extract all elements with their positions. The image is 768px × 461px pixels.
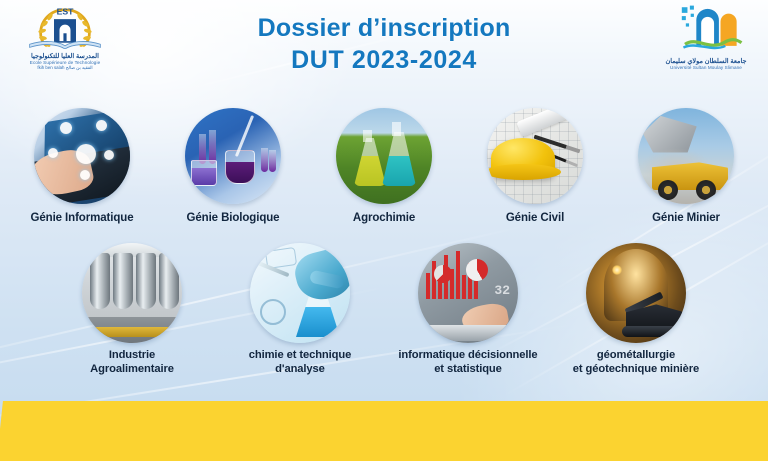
tunnel-excavator-icon bbox=[586, 243, 686, 343]
filiere-label: Agrochimie bbox=[353, 211, 415, 225]
gloved-hand-flask-icon bbox=[250, 243, 350, 343]
filiere-card-genie-informatique[interactable]: Génie Informatique bbox=[14, 108, 150, 225]
filiere-card-informatique-decisionnelle[interactable]: 32 informatique décisionnelle et statist… bbox=[392, 243, 544, 376]
filiere-label: géométallurgie et géotechnique minière bbox=[573, 349, 699, 376]
footer-yellow-banner bbox=[0, 401, 768, 461]
filiere-card-genie-minier[interactable]: Génie Minier bbox=[618, 108, 754, 225]
filiere-card-genie-biologique[interactable]: Génie Biologique bbox=[165, 108, 301, 225]
filiere-card-genie-civil[interactable]: Génie Civil bbox=[467, 108, 603, 225]
dashboard-charts-icon: 32 bbox=[418, 243, 518, 343]
filiere-label: Génie Biologique bbox=[187, 211, 280, 225]
lab-glassware-icon bbox=[185, 108, 281, 204]
filiere-card-agrochimie[interactable]: Agrochimie bbox=[316, 108, 452, 225]
filiere-label: informatique décisionnelle et statistiqu… bbox=[398, 349, 537, 376]
title-line-1: Dossier d’inscription bbox=[0, 12, 768, 44]
steel-tanks-icon bbox=[82, 243, 182, 343]
filieres-row-1: Génie Informatique Génie Biologique Agro… bbox=[0, 108, 768, 225]
filiere-label: Génie Informatique bbox=[31, 211, 134, 225]
laptop-network-icon bbox=[34, 108, 130, 204]
filiere-label: Génie Civil bbox=[506, 211, 564, 225]
filiere-label: chimie et technique d'analyse bbox=[249, 349, 352, 376]
hard-hat-blueprint-icon bbox=[487, 108, 583, 204]
flasks-field-icon bbox=[336, 108, 432, 204]
filiere-card-chimie-technique-analyse[interactable]: chimie et technique d'analyse bbox=[224, 243, 376, 376]
mining-truck-icon bbox=[638, 108, 734, 204]
title-line-2: DUT 2023-2024 bbox=[0, 44, 768, 76]
filiere-card-industrie-agroalimentaire[interactable]: Industrie Agroalimentaire bbox=[56, 243, 208, 376]
filiere-label: Génie Minier bbox=[652, 211, 720, 225]
filieres-row-2: Industrie Agroalimentaire chimie et tech… bbox=[0, 243, 768, 376]
page-title: Dossier d’inscription DUT 2023-2024 bbox=[0, 12, 768, 76]
dashboard-number: 32 bbox=[494, 283, 510, 298]
filiere-label: Industrie Agroalimentaire bbox=[90, 349, 174, 376]
filiere-card-geometallurgie[interactable]: géométallurgie et géotechnique minière bbox=[560, 243, 712, 376]
